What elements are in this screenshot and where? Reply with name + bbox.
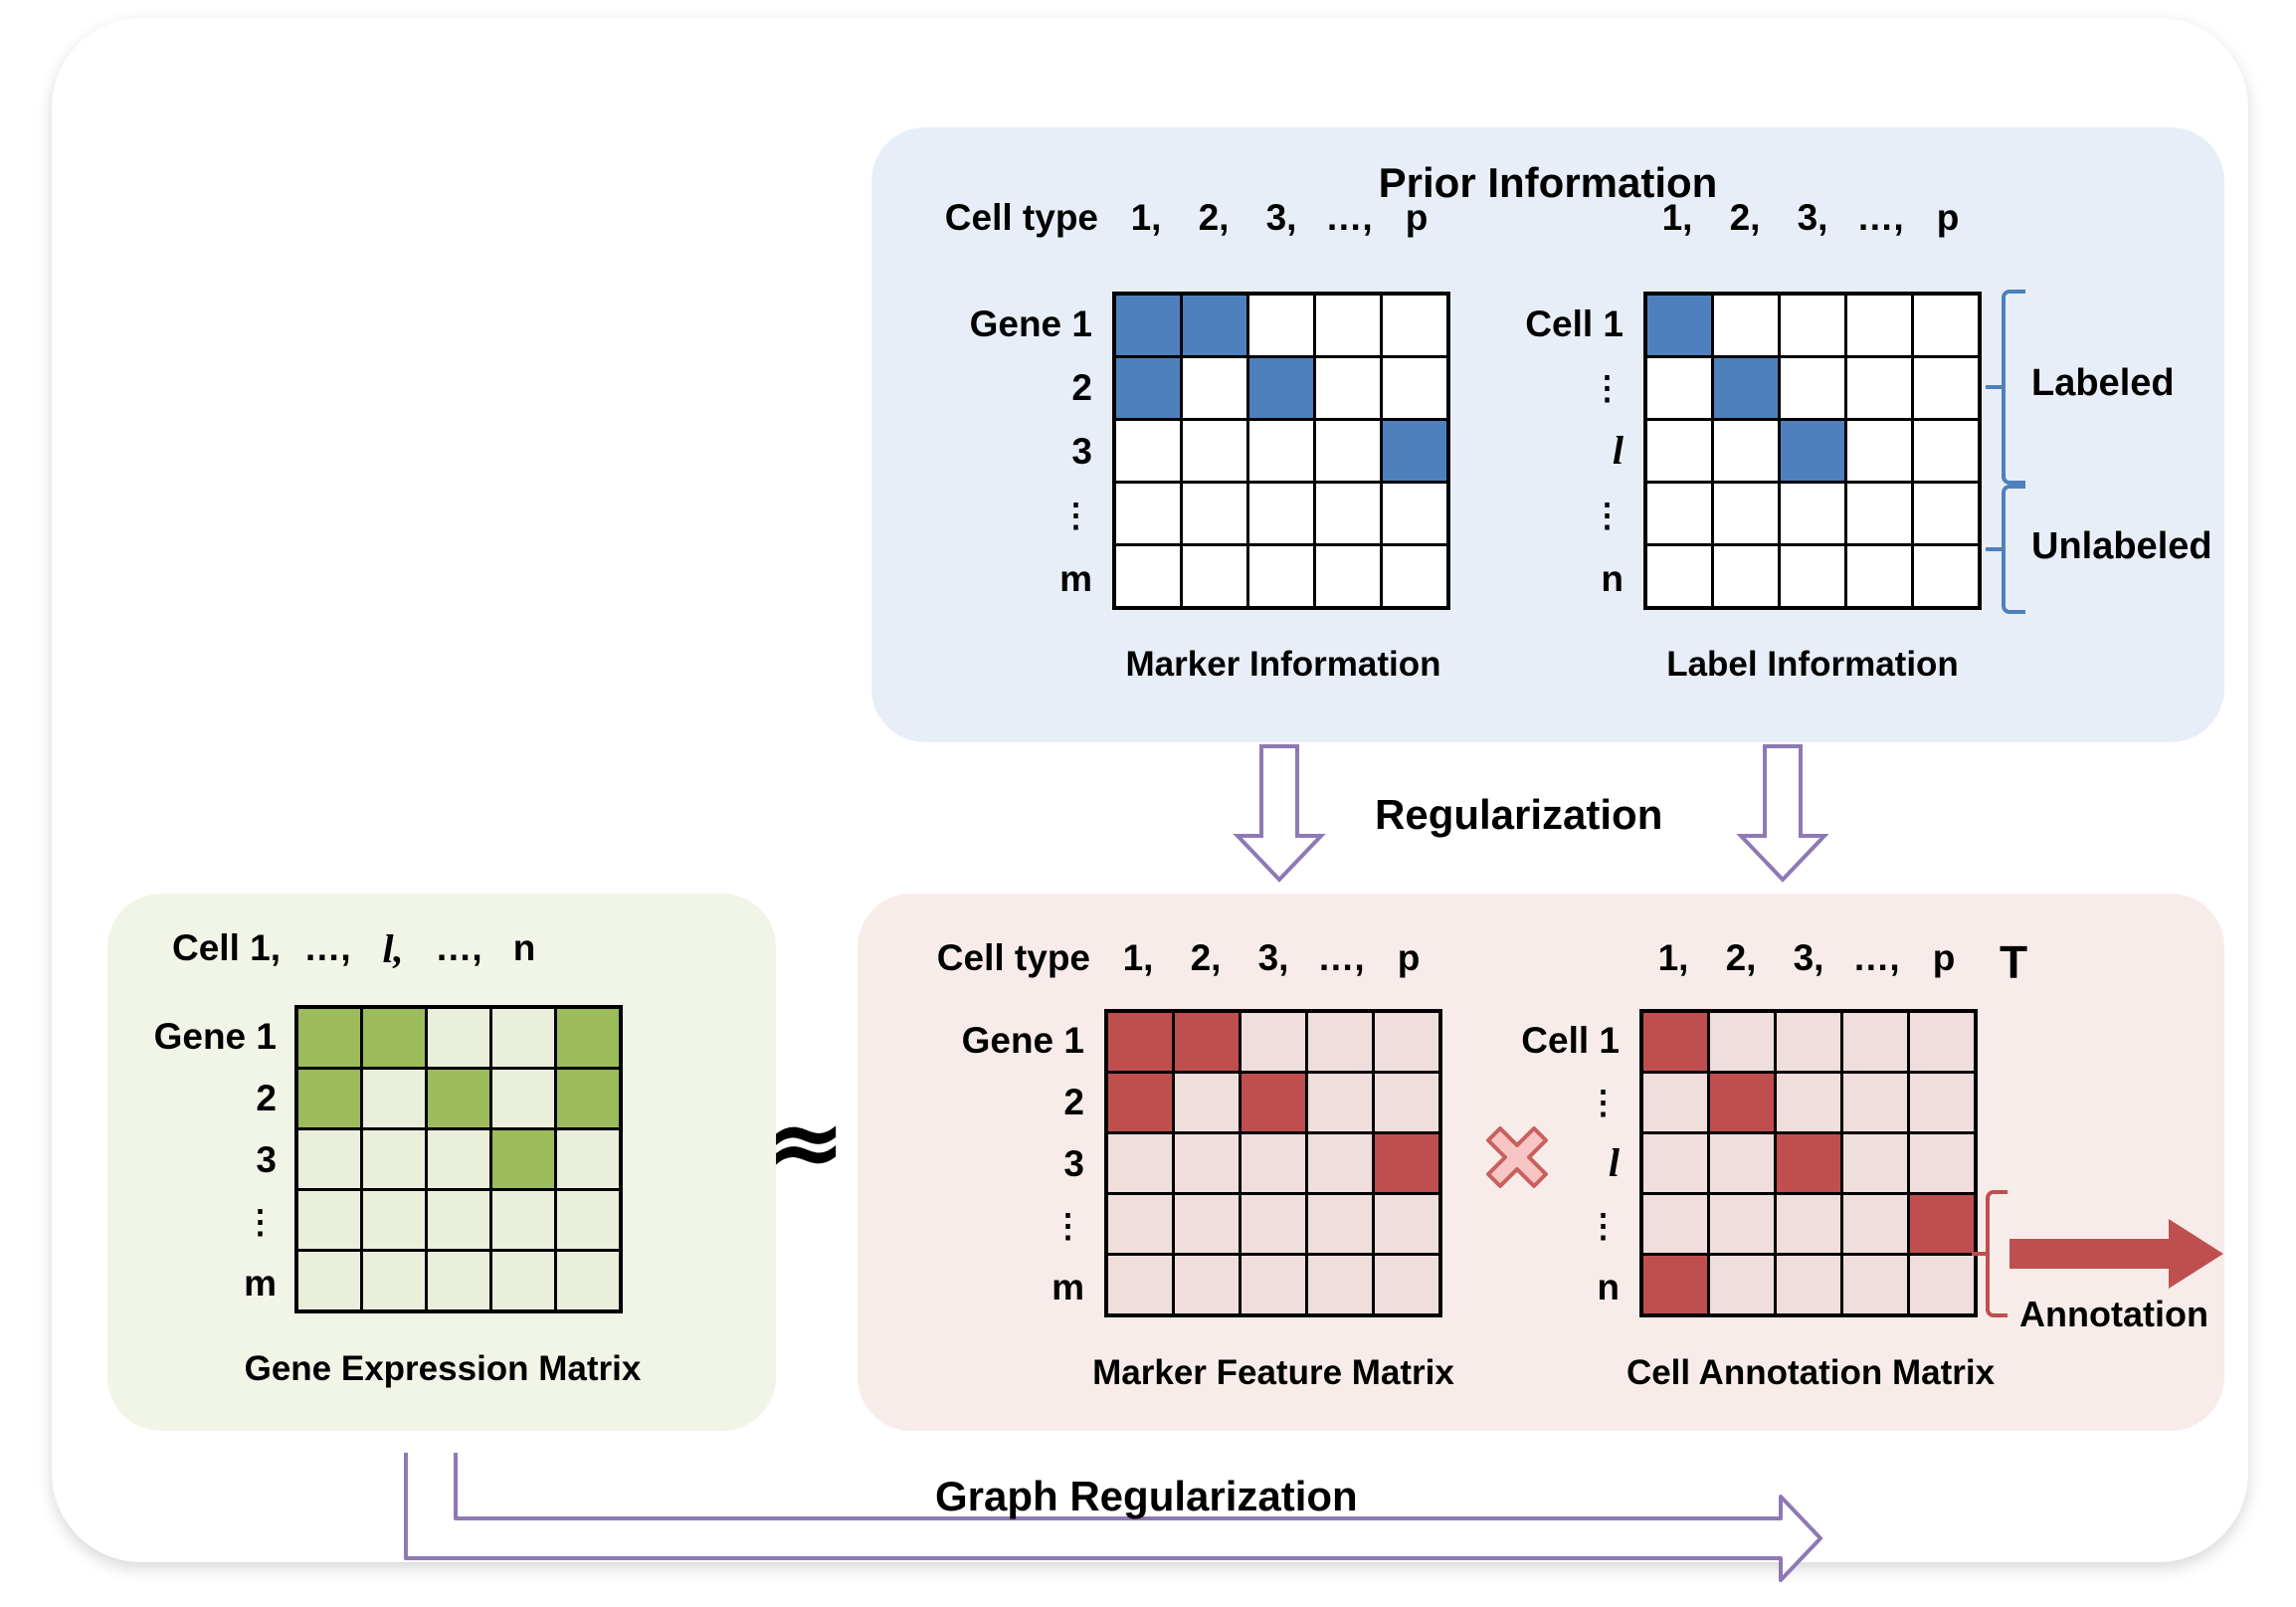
col-label: p	[1375, 937, 1442, 979]
matrix-cell	[492, 1130, 554, 1188]
matrix-cell	[1383, 421, 1446, 481]
col-label: 3,	[1775, 937, 1842, 979]
figure-root: Prior Information Cell type 1, 2, 3, …, …	[0, 0, 2296, 1607]
matrix-cell	[428, 1252, 489, 1309]
matrix-cell	[1643, 1134, 1707, 1192]
transpose-superscript: T	[2000, 935, 2027, 989]
matrix-cell	[1383, 484, 1446, 543]
marker-information-matrix	[1112, 292, 1450, 610]
matrix-cell	[1249, 296, 1313, 355]
matrix-cell	[1108, 1074, 1172, 1131]
labeled-bracket-tick	[1986, 385, 2004, 389]
col-label: …,	[1315, 197, 1383, 239]
gene-expression-row-labels: Gene 1 2 3 ⋮ m	[119, 1005, 277, 1313]
col-label: 3,	[1240, 937, 1307, 979]
matrix-cell	[1843, 1256, 1907, 1313]
col-label: 1,	[1643, 197, 1711, 239]
matrix-cell	[1183, 296, 1246, 355]
matrix-cell	[1308, 1195, 1372, 1253]
matrix-cell	[1714, 421, 1778, 481]
matrix-cell	[557, 1252, 619, 1309]
matrix-cell	[557, 1009, 619, 1067]
matrix-cell	[1116, 484, 1180, 543]
matrix-cell	[1383, 546, 1446, 606]
matrix-cell	[1910, 1013, 1974, 1071]
col-label: 1,	[1104, 937, 1172, 979]
col-label: …,	[1842, 937, 1910, 979]
matrix-cell	[1375, 1256, 1438, 1313]
gene-expression-column-labels: Cell 1, …, l, …, n	[294, 925, 623, 971]
matrix-cell	[428, 1009, 489, 1067]
matrix-cell	[1843, 1195, 1907, 1253]
labeled-bracket	[2002, 290, 2025, 485]
row-label: m	[1059, 546, 1092, 610]
label-information-matrix	[1643, 292, 1982, 610]
matrix-cell	[363, 1252, 425, 1309]
unlabeled-bracket-tick	[1986, 547, 2004, 551]
matrix-cell	[1777, 1013, 1840, 1071]
matrix-cell	[1308, 1256, 1372, 1313]
matrix-cell	[1643, 1195, 1707, 1253]
matrix-cell	[1175, 1013, 1239, 1071]
col-label: n	[491, 927, 557, 969]
matrix-cell	[492, 1252, 554, 1309]
col-label: …,	[294, 927, 360, 969]
matrix-cell	[492, 1070, 554, 1127]
label-information-caption: Label Information	[1564, 645, 2061, 685]
marker-feature-column-labels: Cell type 1, 2, 3, …, p	[1104, 935, 1442, 981]
row-label: Gene 1	[970, 292, 1092, 355]
matrix-cell	[1249, 484, 1313, 543]
matrix-cell	[492, 1009, 554, 1067]
col-label: l,	[360, 925, 426, 972]
matrix-cell	[1175, 1195, 1239, 1253]
matrix-cell	[1781, 296, 1844, 355]
row-label: ⋮	[1059, 483, 1092, 546]
matrix-cell	[1108, 1134, 1172, 1192]
matrix-cell	[1316, 421, 1380, 481]
annotation-bracket	[1986, 1190, 2008, 1317]
row-label: ⋮	[244, 1190, 277, 1252]
matrix-cell	[1183, 484, 1246, 543]
matrix-cell	[363, 1070, 425, 1127]
marker-feature-matrix	[1104, 1009, 1442, 1317]
matrix-cell	[1777, 1074, 1840, 1131]
matrix-cell	[1843, 1134, 1907, 1192]
matrix-cell	[1375, 1074, 1438, 1131]
annotation-label: Annotation	[2019, 1294, 2208, 1335]
unlabeled-bracket	[2002, 485, 2025, 614]
gene-expression-matrix	[294, 1005, 623, 1313]
matrix-cell	[298, 1191, 360, 1249]
col-label: …,	[1846, 197, 1914, 239]
col-label: 2,	[1172, 937, 1240, 979]
matrix-cell	[1777, 1256, 1840, 1313]
matrix-cell	[1781, 546, 1844, 606]
row-label: 2	[1063, 1071, 1084, 1132]
matrix-cell	[1847, 421, 1911, 481]
matrix-cell	[1647, 484, 1711, 543]
matrix-cell	[1249, 546, 1313, 606]
matrix-cell	[1914, 484, 1978, 543]
matrix-cell	[1710, 1195, 1774, 1253]
cell-annotation-caption: Cell Annotation Matrix	[1552, 1353, 2069, 1393]
matrix-cell	[1714, 296, 1778, 355]
matrix-cell	[298, 1070, 360, 1127]
col-label: 1,	[1639, 937, 1707, 979]
matrix-cell	[1116, 421, 1180, 481]
marker-feature-row-labels: Gene 1 2 3 ⋮ m	[917, 1009, 1084, 1317]
regularization-label: Regularization	[1375, 791, 1662, 839]
label-information-column-labels: 1, 2, 3, …, p	[1643, 194, 1982, 242]
col-label: 3,	[1779, 197, 1846, 239]
unlabeled-label: Unlabeled	[2031, 525, 2212, 568]
matrix-cell	[428, 1070, 489, 1127]
matrix-cell	[1108, 1013, 1172, 1071]
matrix-cell	[298, 1009, 360, 1067]
matrix-cell	[1316, 546, 1380, 606]
gene-expression-col-lead: Cell 1,	[172, 927, 294, 969]
row-label: ⋮	[1587, 1071, 1620, 1132]
matrix-cell	[363, 1009, 425, 1067]
matrix-cell	[1914, 296, 1978, 355]
matrix-cell	[1714, 358, 1778, 418]
row-label: Cell 1	[1521, 1009, 1620, 1071]
matrix-cell	[1175, 1134, 1239, 1192]
matrix-cell	[1242, 1256, 1305, 1313]
matrix-cell	[1910, 1195, 1974, 1253]
approximately-equal-icon: ≈	[766, 1095, 846, 1190]
gene-expression-caption: Gene Expression Matrix	[139, 1349, 746, 1389]
row-label: n	[1601, 546, 1624, 610]
matrix-cell	[1308, 1013, 1372, 1071]
regularization-arrow-left-icon	[1230, 744, 1329, 884]
col-label: …,	[1307, 937, 1375, 979]
matrix-cell	[1777, 1134, 1840, 1192]
matrix-cell	[1710, 1074, 1774, 1131]
matrix-cell	[1108, 1256, 1172, 1313]
matrix-cell	[1710, 1134, 1774, 1192]
matrix-cell	[363, 1130, 425, 1188]
row-label: l	[1609, 1132, 1620, 1194]
matrix-cell	[1710, 1013, 1774, 1071]
marker-feature-caption: Marker Feature Matrix	[1015, 1353, 1532, 1393]
col-label: 2,	[1707, 937, 1775, 979]
matrix-cell	[1108, 1195, 1172, 1253]
matrix-cell	[557, 1191, 619, 1249]
matrix-cell	[1714, 484, 1778, 543]
matrix-cell	[1175, 1074, 1239, 1131]
matrix-cell	[1847, 296, 1911, 355]
matrix-cell	[1175, 1256, 1239, 1313]
marker-information-column-labels: Cell type 1, 2, 3, …, p	[1112, 194, 1450, 242]
matrix-cell	[1781, 358, 1844, 418]
row-label: 2	[256, 1067, 277, 1128]
matrix-cell	[1647, 296, 1711, 355]
row-label: ⋮	[1052, 1194, 1084, 1256]
labeled-label: Labeled	[2031, 362, 2175, 405]
matrix-cell	[428, 1130, 489, 1188]
matrix-cell	[1914, 421, 1978, 481]
matrix-cell	[1316, 296, 1380, 355]
matrix-cell	[1910, 1074, 1974, 1131]
matrix-cell	[1183, 546, 1246, 606]
matrix-cell	[1847, 484, 1911, 543]
col-label: p	[1910, 937, 1978, 979]
cell-annotation-matrix	[1639, 1009, 1978, 1317]
matrix-cell	[492, 1191, 554, 1249]
matrix-cell	[1643, 1074, 1707, 1131]
matrix-cell	[1316, 358, 1380, 418]
matrix-cell	[1647, 421, 1711, 481]
matrix-cell	[557, 1130, 619, 1188]
row-label: ⋮	[1587, 1194, 1620, 1256]
matrix-cell	[1242, 1134, 1305, 1192]
marker-information-row-labels: Gene 1 2 3 ⋮ m	[925, 292, 1092, 610]
matrix-cell	[1914, 358, 1978, 418]
col-label: p	[1383, 197, 1450, 239]
matrix-cell	[1249, 358, 1313, 418]
row-label: m	[244, 1252, 277, 1313]
cell-annotation-row-labels: Cell 1 ⋮ l ⋮ n	[1460, 1009, 1620, 1317]
matrix-cell	[1843, 1013, 1907, 1071]
matrix-cell	[298, 1130, 360, 1188]
matrix-cell	[1375, 1195, 1438, 1253]
matrix-cell	[1249, 421, 1313, 481]
annotation-arrow-icon	[2009, 1209, 2228, 1299]
matrix-cell	[1847, 358, 1911, 418]
row-label: Gene 1	[154, 1005, 277, 1067]
matrix-cell	[1308, 1074, 1372, 1131]
matrix-cell	[1910, 1134, 1974, 1192]
row-label: 2	[1071, 355, 1092, 419]
matrix-cell	[1116, 546, 1180, 606]
matrix-cell	[1116, 296, 1180, 355]
col-label: 1,	[1112, 197, 1180, 239]
graph-regularization-label: Graph Regularization	[935, 1473, 1358, 1520]
matrix-cell	[1647, 546, 1711, 606]
matrix-cell	[1910, 1256, 1974, 1313]
matrix-cell	[1183, 358, 1246, 418]
row-label: ⋮	[1591, 483, 1624, 546]
matrix-cell	[1643, 1013, 1707, 1071]
matrix-cell	[298, 1252, 360, 1309]
matrix-cell	[1308, 1134, 1372, 1192]
matrix-cell	[1781, 421, 1844, 481]
matrix-cell	[1116, 358, 1180, 418]
matrix-cell	[1777, 1195, 1840, 1253]
col-label: 2,	[1711, 197, 1779, 239]
row-label: 3	[1063, 1132, 1084, 1194]
matrix-cell	[1242, 1013, 1305, 1071]
marker-information-caption: Marker Information	[1035, 645, 1532, 685]
marker-information-col-lead: Cell type	[945, 197, 1112, 239]
matrix-cell	[1183, 421, 1246, 481]
row-label: 3	[1071, 419, 1092, 483]
row-label: Cell 1	[1525, 292, 1624, 355]
annotation-bracket-tick	[1972, 1252, 1988, 1256]
row-label: n	[1597, 1256, 1620, 1317]
matrix-cell	[1843, 1074, 1907, 1131]
matrix-cell	[1781, 484, 1844, 543]
matrix-cell	[1383, 296, 1446, 355]
cell-annotation-column-labels: 1, 2, 3, …, p	[1639, 935, 1978, 981]
marker-feature-col-lead: Cell type	[937, 937, 1104, 979]
row-label: m	[1052, 1256, 1084, 1317]
matrix-cell	[557, 1070, 619, 1127]
regularization-arrow-right-icon	[1733, 744, 1832, 884]
matrix-cell	[1383, 358, 1446, 418]
row-label: 3	[256, 1128, 277, 1190]
col-label: 3,	[1247, 197, 1315, 239]
matrix-cell	[1710, 1256, 1774, 1313]
matrix-cell	[1242, 1195, 1305, 1253]
matrix-cell	[1914, 546, 1978, 606]
matrix-cell	[428, 1191, 489, 1249]
matrix-cell	[1242, 1074, 1305, 1131]
row-label: Gene 1	[962, 1009, 1084, 1071]
matrix-cell	[1375, 1013, 1438, 1071]
matrix-cell	[1714, 546, 1778, 606]
matrix-cell	[1847, 546, 1911, 606]
row-label: ⋮	[1591, 355, 1624, 419]
col-label: …,	[426, 927, 491, 969]
matrix-cell	[1316, 484, 1380, 543]
matrix-cell	[1647, 358, 1711, 418]
matrix-cell	[1375, 1134, 1438, 1192]
matrix-cell	[1643, 1256, 1707, 1313]
row-label: l	[1613, 419, 1624, 483]
label-information-row-labels: Cell 1 ⋮ l ⋮ n	[1462, 292, 1624, 610]
col-label: p	[1914, 197, 1982, 239]
matrix-cell	[363, 1191, 425, 1249]
col-label: 2,	[1180, 197, 1247, 239]
